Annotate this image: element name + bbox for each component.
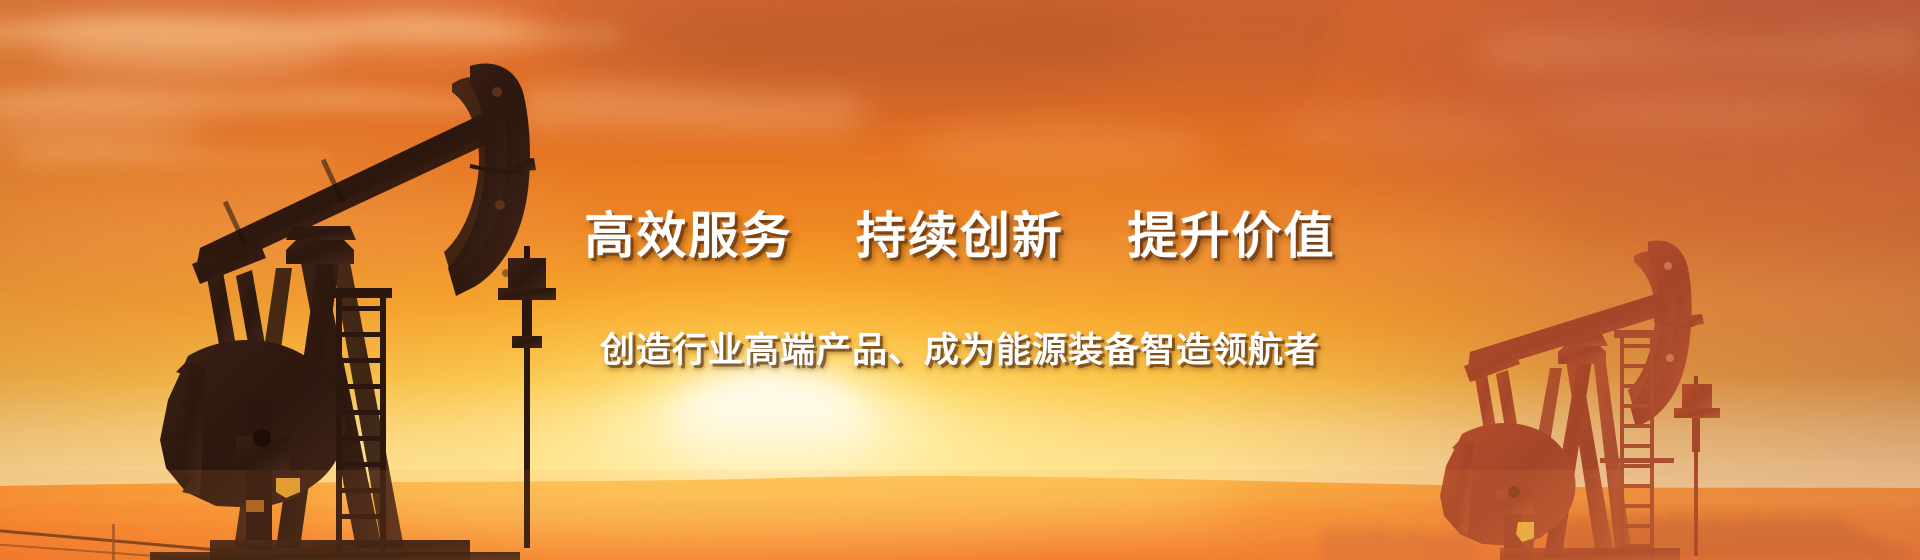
sunset-oilfield-scene — [0, 0, 1920, 560]
hero-banner: 高效服务 持续创新 提升价值 创造行业高端产品、成为能源装备智造领航者 — [0, 0, 1920, 560]
